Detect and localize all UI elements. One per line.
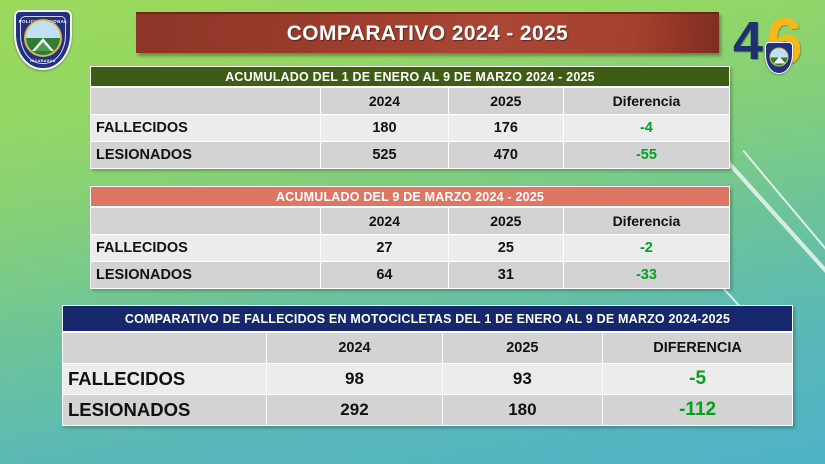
table2-col-1: 2024: [321, 208, 449, 235]
table2-col-2: 2025: [448, 208, 563, 235]
table1-row0-2025: 176: [448, 115, 563, 142]
table3-row1-diff: -112: [603, 395, 793, 426]
table2-row0-2024: 27: [321, 235, 449, 262]
table-acumulado-9-marzo: ACUMULADO DEL 9 DE MARZO 2024 - 2025 202…: [90, 186, 730, 289]
anniversary-46-logo: 4 6: [733, 8, 815, 78]
table3-col-2: 2025: [442, 333, 603, 364]
table1-grid: 2024 2025 Diferencia FALLECIDOS 180 176 …: [90, 87, 730, 169]
logo-mini-emblem: [770, 48, 789, 67]
table1-col-0: [91, 88, 321, 115]
table-row: FALLECIDOS 98 93 -5: [63, 364, 793, 395]
table2-col-0: [91, 208, 321, 235]
table2-row0-label: FALLECIDOS: [91, 235, 321, 262]
table2-row1-diff: -33: [563, 262, 729, 289]
badge-emblem-icon: [24, 19, 62, 57]
table-comparativo-motocicletas: COMPARATIVO DE FALLECIDOS EN MOTOCICLETA…: [62, 305, 793, 426]
table3-row0-2024: 98: [267, 364, 442, 395]
table2-grid: 2024 2025 Diferencia FALLECIDOS 27 25 -2…: [90, 207, 730, 289]
table-row: 2024 2025 Diferencia: [91, 208, 730, 235]
table3-row1-2024: 292: [267, 395, 442, 426]
table3-col-0: [63, 333, 267, 364]
emblem-triangle-inner: [35, 42, 51, 51]
table-acumulado-enero-marzo: ACUMULADO DEL 1 DE ENERO AL 9 DE MARZO 2…: [90, 66, 730, 169]
policia-nacional-badge: POLICIA NACIONAL NICARAGUA: [14, 10, 72, 70]
table1-row0-label: FALLECIDOS: [91, 115, 321, 142]
table2-row1-2025: 31: [448, 262, 563, 289]
badge-bottom-text: NICARAGUA: [16, 59, 70, 63]
table2-col-3: Diferencia: [563, 208, 729, 235]
table1-row1-label: LESIONADOS: [91, 142, 321, 169]
table-row: 2024 2025 DIFERENCIA: [63, 333, 793, 364]
table1-col-1: 2024: [321, 88, 449, 115]
table-row: 2024 2025 Diferencia: [91, 88, 730, 115]
table1-col-3: Diferencia: [563, 88, 729, 115]
table-row: LESIONADOS 64 31 -33: [91, 262, 730, 289]
table1-row1-2025: 470: [448, 142, 563, 169]
table2-row0-diff: -2: [563, 235, 729, 262]
mini-emblem-triangle: [773, 57, 785, 64]
table2-row1-label: LESIONADOS: [91, 262, 321, 289]
table3-col-3: DIFERENCIA: [603, 333, 793, 364]
table1-row0-2024: 180: [321, 115, 449, 142]
table2-row1-2024: 64: [321, 262, 449, 289]
table1-row1-diff: -55: [563, 142, 729, 169]
table3-grid: 2024 2025 DIFERENCIA FALLECIDOS 98 93 -5…: [62, 332, 793, 426]
table1-row1-2024: 525: [321, 142, 449, 169]
shield-shape: POLICIA NACIONAL NICARAGUA: [14, 10, 72, 70]
table-row: FALLECIDOS 180 176 -4: [91, 115, 730, 142]
table2-caption: ACUMULADO DEL 9 DE MARZO 2024 - 2025: [90, 186, 730, 207]
table3-row0-label: FALLECIDOS: [63, 364, 267, 395]
slide-canvas: POLICIA NACIONAL NICARAGUA 4 6 COMPARATI…: [0, 0, 825, 464]
table-row: FALLECIDOS 27 25 -2: [91, 235, 730, 262]
table-row: LESIONADOS 292 180 -112: [63, 395, 793, 426]
table3-row0-2025: 93: [442, 364, 603, 395]
table3-col-1: 2024: [267, 333, 442, 364]
table3-caption: COMPARATIVO DE FALLECIDOS EN MOTOCICLETA…: [62, 305, 793, 332]
table3-row1-2025: 180: [442, 395, 603, 426]
table1-row0-diff: -4: [563, 115, 729, 142]
table1-col-2: 2025: [448, 88, 563, 115]
page-title: COMPARATIVO 2024 - 2025: [287, 22, 569, 46]
table2-row0-2025: 25: [448, 235, 563, 262]
slide-title-banner: COMPARATIVO 2024 - 2025: [136, 12, 719, 53]
table3-row0-diff: -5: [603, 364, 793, 395]
table3-row1-label: LESIONADOS: [63, 395, 267, 426]
table1-caption: ACUMULADO DEL 1 DE ENERO AL 9 DE MARZO 2…: [90, 66, 730, 87]
table-row: LESIONADOS 525 470 -55: [91, 142, 730, 169]
logo-digit-4: 4: [733, 14, 763, 68]
emblem-sky: [26, 21, 60, 39]
